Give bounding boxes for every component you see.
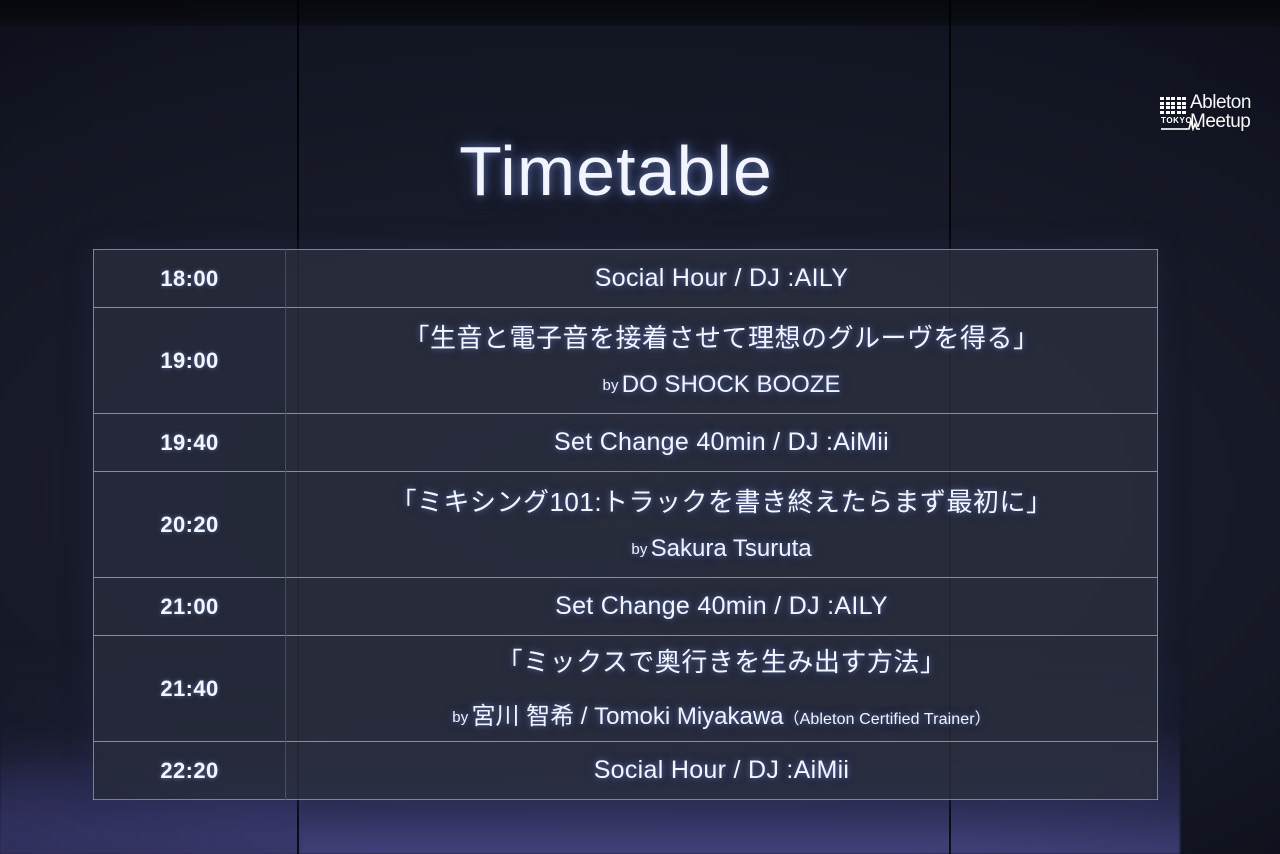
timetable-row: 20:20「ミキシング101:トラックを書き終えたらまず最初に」bySakura… [94, 472, 1158, 578]
timetable-body: 18:00Social Hour / DJ :AILY19:00「生音と電子音を… [94, 250, 1158, 800]
event-presenter-name: 宮川 智希 / Tomoki Miyakawa [471, 703, 783, 730]
timetable-event-cell: Social Hour / DJ :AiMii [286, 742, 1158, 800]
timetable-row: 21:40「ミックスで奥行きを生み出す方法」by宮川 智希 / Tomoki M… [94, 636, 1158, 742]
timetable-time-cell: 21:00 [94, 578, 286, 636]
event-presenter: by宮川 智希 / Tomoki Miyakawa（Ableton Certif… [300, 696, 1143, 731]
timetable-event-cell: 「生音と電子音を接着させて理想のグルーヴを得る」byDO SHOCK BOOZE [286, 308, 1158, 414]
event-presenter: bySakura Tsuruta [300, 535, 1143, 563]
event-presenter-name: DO SHOCK BOOZE [622, 371, 841, 398]
event-title: Social Hour / DJ :AiMii [300, 755, 1143, 786]
event-title: 「ミキシング101:トラックを書き終えたらまず最初に」 [300, 486, 1143, 519]
event-by-prefix: by [631, 541, 650, 558]
timetable-event-cell: Set Change 40min / DJ :AILY [286, 578, 1158, 636]
event-title: 「ミックスで奥行きを生み出す方法」 [300, 646, 1143, 679]
timetable-event-cell: Set Change 40min / DJ :AiMii [286, 414, 1158, 472]
timetable-row: 19:40Set Change 40min / DJ :AiMii [94, 414, 1158, 472]
event-presenter-note: （Ableton Certified Trainer） [784, 711, 991, 728]
timetable-row: 22:20Social Hour / DJ :AiMii [94, 742, 1158, 800]
page-title: Timetable [0, 131, 1232, 211]
event-presenter-name: Sakura Tsuruta [651, 535, 812, 562]
timetable-time-cell: 19:40 [94, 414, 286, 472]
timetable: 18:00Social Hour / DJ :AILY19:00「生音と電子音を… [93, 249, 1158, 800]
timetable-row: 19:00「生音と電子音を接着させて理想のグルーヴを得る」byDO SHOCK … [94, 308, 1158, 414]
event-title: Set Change 40min / DJ :AILY [300, 591, 1143, 622]
event-title: Social Hour / DJ :AILY [300, 263, 1143, 294]
timetable-event-cell: Social Hour / DJ :AILY [286, 250, 1158, 308]
timetable-time-cell: 18:00 [94, 250, 286, 308]
timetable-time-cell: 20:20 [94, 472, 286, 578]
timetable-time-cell: 19:00 [94, 308, 286, 414]
event-by-prefix: by [603, 377, 622, 394]
timetable-time-cell: 22:20 [94, 742, 286, 800]
event-by-prefix: by [452, 709, 471, 726]
logo-underline [1161, 128, 1187, 130]
timetable-row: 18:00Social Hour / DJ :AILY [94, 250, 1158, 308]
timetable-event-cell: 「ミキシング101:トラックを書き終えたらまず最初に」bySakura Tsur… [286, 472, 1158, 578]
logo-text-meetup: Meetup [1190, 111, 1250, 133]
timetable-row: 21:00Set Change 40min / DJ :AILY [94, 578, 1158, 636]
event-title: 「生音と電子音を接着させて理想のグルーヴを得る」 [300, 322, 1143, 355]
timetable-event-cell: 「ミックスで奥行きを生み出す方法」by宮川 智希 / Tomoki Miyaka… [286, 636, 1158, 742]
timetable-time-cell: 21:40 [94, 636, 286, 742]
ableton-grid-icon [1160, 97, 1186, 114]
event-title: Set Change 40min / DJ :AiMii [300, 427, 1143, 458]
screen-top-dark-band [0, 0, 1280, 26]
event-presenter: byDO SHOCK BOOZE [300, 371, 1143, 399]
